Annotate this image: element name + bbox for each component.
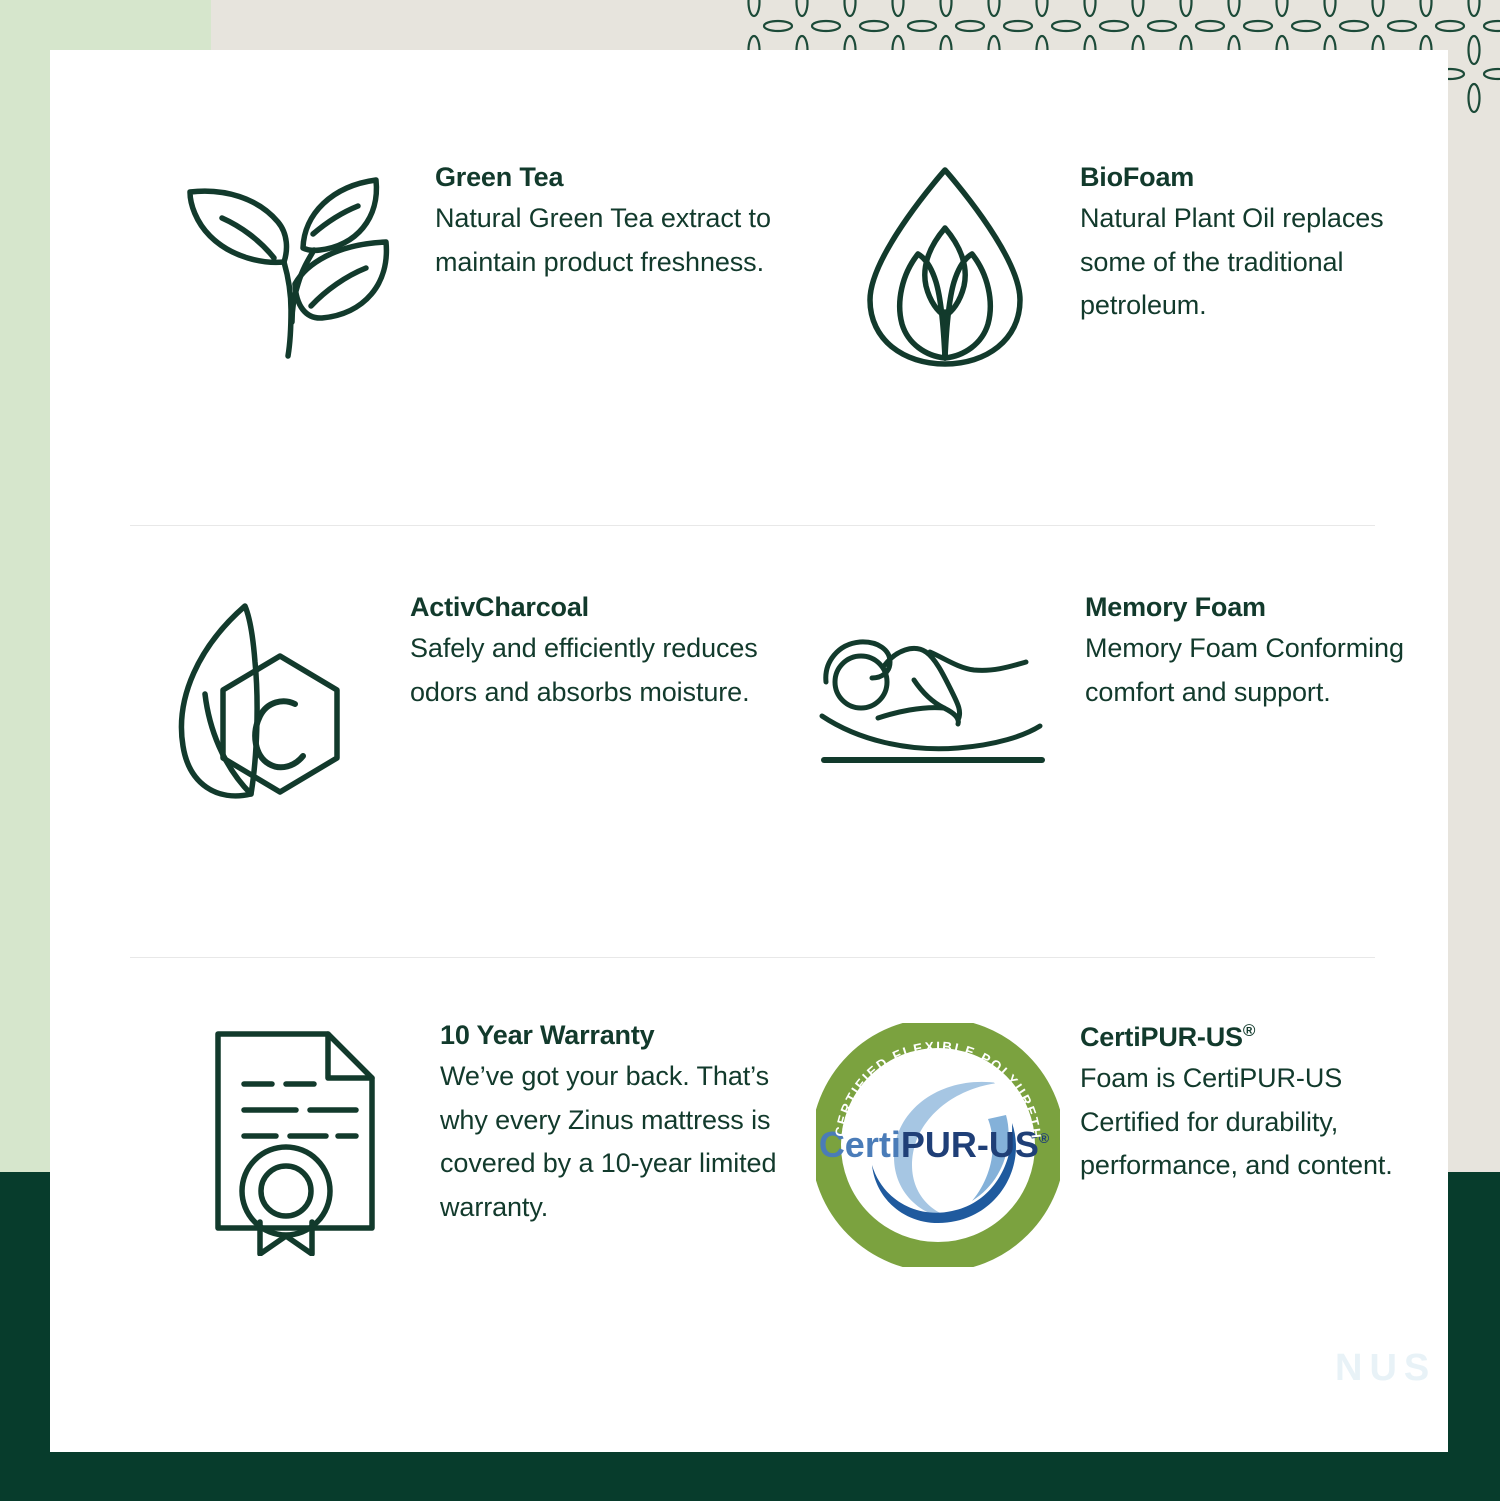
feature-warranty: 10 Year Warranty We’ve got your back. Th… (130, 1018, 790, 1256)
feature-activcharcoal: ActivCharcoal Safely and efficiently red… (130, 590, 790, 828)
feature-description: Natural Plant Oil replaces some of the t… (1080, 197, 1430, 328)
feature-memory-foam: Memory Foam Memory Foam Conforming comfo… (790, 590, 1430, 765)
feature-row-1: Green Tea Natural Green Tea extract to m… (130, 160, 1455, 525)
feature-title: Memory Foam (1085, 594, 1430, 621)
certificate-seal-icon (130, 1018, 440, 1256)
leaves-icon (130, 160, 435, 366)
certipur-title-registered: ® (1243, 1021, 1255, 1040)
warranty-text: 10 Year Warranty We’ve got your back. Th… (440, 1018, 790, 1230)
feature-description: We’ve got your back. That’s why every Zi… (440, 1055, 790, 1230)
svg-text:CertiPUR-US®: CertiPUR-US® (818, 1124, 1049, 1165)
feature-description: Memory Foam Conforming comfort and suppo… (1085, 627, 1430, 714)
activcharcoal-text: ActivCharcoal Safely and efficiently red… (410, 590, 790, 714)
feature-title: BioFoam (1080, 164, 1430, 191)
feature-certipur: CertiPUR-US® CONTAINS CERTIFIED FLEXIBLE… (790, 1018, 1430, 1267)
green-tea-text: Green Tea Natural Green Tea extract to m… (435, 160, 790, 284)
memory-foam-text: Memory Foam Memory Foam Conforming comfo… (1085, 590, 1430, 714)
certipur-title-main: CertiPUR-US (1080, 1022, 1243, 1052)
feature-description: Foam is CertiPUR-US Certified for durabi… (1080, 1057, 1430, 1188)
feature-title: Green Tea (435, 164, 790, 191)
sleeping-person-icon (790, 590, 1085, 765)
feature-description: Safely and efficiently reduces odors and… (410, 627, 790, 714)
infographic-canvas: Green Tea Natural Green Tea extract to m… (0, 0, 1500, 1501)
biofoam-text: BioFoam Natural Plant Oil replaces some … (1080, 160, 1430, 328)
watermark-text: NUS (1335, 1347, 1436, 1390)
certipur-text: CertiPUR-US® Foam is CertiPUR-US Certifi… (1080, 1018, 1430, 1188)
content-card: Green Tea Natural Green Tea extract to m… (50, 50, 1448, 1452)
certipur-us-badge-icon: CertiPUR-US® CONTAINS CERTIFIED FLEXIBLE… (790, 1018, 1080, 1267)
feature-row-3: 10 Year Warranty We’ve got your back. Th… (130, 958, 1455, 1378)
feature-green-tea: Green Tea Natural Green Tea extract to m… (130, 160, 790, 366)
feature-title: 10 Year Warranty (440, 1022, 790, 1049)
feature-title: CertiPUR-US® (1080, 1022, 1430, 1051)
certipur-wordmark-part2: PUR-US (900, 1124, 1038, 1165)
droplet-flower-icon (790, 160, 1080, 372)
feature-row-2: ActivCharcoal Safely and efficiently red… (130, 526, 1455, 957)
leaf-hexagon-carbon-icon (130, 590, 410, 828)
certipur-wordmark-part1: Certi (818, 1124, 900, 1165)
feature-title: ActivCharcoal (410, 594, 790, 621)
feature-description: Natural Green Tea extract to maintain pr… (435, 197, 790, 284)
feature-biofoam: BioFoam Natural Plant Oil replaces some … (790, 160, 1430, 372)
feature-grid: Green Tea Natural Green Tea extract to m… (130, 160, 1455, 1378)
